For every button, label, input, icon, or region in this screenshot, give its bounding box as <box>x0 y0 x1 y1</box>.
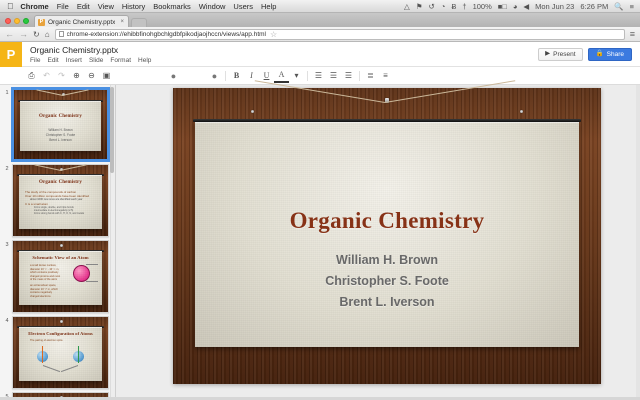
editor-toolbar: ⎙ ↶ ↷ ⊕ ⊖ ▣ ● ● B I U A ▾ ☰ ☰ ☰ ≣ ≡ <box>0 67 640 85</box>
bullet: intermediate in electronegativity (2.5) <box>25 209 98 212</box>
slide-thumbnail-1[interactable]: Organic Chemistry William H. Brown Chris… <box>12 88 109 161</box>
slide-number: 3 <box>2 240 12 248</box>
present-button[interactable]: ▶ Present <box>538 48 582 61</box>
slide-thumbnail-2[interactable]: Organic Chemistry The study of the compo… <box>12 164 109 237</box>
user-icon[interactable]: † <box>462 2 466 11</box>
slide-subtitle-1: William H. Brown <box>20 128 101 133</box>
dropbox-icon[interactable]: △ <box>404 2 410 11</box>
text-color-button[interactable]: A <box>274 69 289 83</box>
battery-icon[interactable]: ■□ <box>498 2 507 11</box>
numbered-list-icon[interactable]: ≣ <box>363 69 378 83</box>
os-menu-help[interactable]: Help <box>261 2 276 11</box>
os-menu-bar:  Chrome File Edit View History Bookmark… <box>0 0 640 13</box>
bullet: The pairing of electron spins <box>25 339 98 343</box>
play-icon: ▶ <box>545 51 550 58</box>
slide-canvas[interactable]: Organic Chemistry William H. Brown Chris… <box>195 122 579 347</box>
zoom-out-icon[interactable]: ⊖ <box>84 69 99 83</box>
chevron-down-icon[interactable]: ▾ <box>289 69 304 83</box>
app-header: P Organic Chemistry.pptx File Edit Inser… <box>0 42 640 67</box>
app-menu-edit[interactable]: Edit <box>47 57 58 64</box>
os-status-area: △ ⚑ ↺ ◔ Ƀ † 100% ■□ ◕ ◀ Mon Jun 23 6:26 … <box>404 2 640 11</box>
callout-line <box>43 365 60 372</box>
volume-icon[interactable]: ◀ <box>523 2 529 11</box>
list-item[interactable]: 3 Schematic View of an Atom a small dens… <box>0 237 115 313</box>
slide-title: Schematic View of an Atom <box>19 255 102 260</box>
close-window-button[interactable] <box>5 18 11 24</box>
slide-subtitle-2: Christopher S. Foote <box>20 133 101 138</box>
bullet: an extranuclear space, diameter 10⁻¹⁰ m,… <box>25 284 62 298</box>
battery-percent-label[interactable]: 100% <box>473 2 492 11</box>
nail-icon <box>60 244 63 247</box>
chrome-menu-icon[interactable]: ≡ <box>630 30 635 39</box>
wifi-icon[interactable]: ◕ <box>513 2 518 11</box>
callout-line <box>86 281 98 282</box>
minimize-window-button[interactable] <box>14 18 20 24</box>
nail-left-icon <box>251 110 254 113</box>
os-menu-window[interactable]: Window <box>199 2 226 11</box>
back-icon[interactable]: ← <box>5 30 14 39</box>
forward-icon[interactable]: → <box>19 30 28 39</box>
reload-icon[interactable]: ↻ <box>33 30 40 39</box>
os-time-label: 6:26 PM <box>580 2 608 11</box>
slide-title: Electron Configuration of Atoms <box>19 331 102 336</box>
lock-icon: 🔒 <box>596 51 604 58</box>
present-button-label: Present <box>553 51 575 58</box>
print-icon[interactable]: ⎙ <box>24 69 39 83</box>
slide-number: 1 <box>2 88 12 96</box>
list-item[interactable]: 4 Electron Configuration of Atoms The pa… <box>0 313 115 389</box>
spin-up-arrow-icon <box>42 346 43 363</box>
share-button-label: Share <box>607 51 624 58</box>
nail-icon <box>60 320 63 323</box>
app-menu-format[interactable]: Format <box>110 57 131 64</box>
bullet: forms single, double, and triple bonds <box>25 206 98 209</box>
browser-tab-strip: P Organic Chemistry.pptx × <box>0 13 640 27</box>
app-menu-help[interactable]: Help <box>138 57 151 64</box>
align-center-icon[interactable]: ☰ <box>326 69 341 83</box>
tab-favicon: P <box>38 19 45 26</box>
electron-sphere-icon <box>73 351 84 362</box>
search-icon[interactable]: 🔍 <box>614 2 623 11</box>
slide-bullets: The study of the compounds of carbon Ove… <box>25 190 98 216</box>
address-bar[interactable]: chrome-extension://ehibbfinohgbchlgdbfpi… <box>55 29 625 40</box>
author-name: Brent L. Iverson <box>195 292 579 313</box>
bell-icon[interactable]: ⚑ <box>416 2 423 11</box>
bullet: forms strong bonds with C, H, O, N, and … <box>25 212 98 215</box>
app-menu-bar: File Edit Insert Slide Format Help <box>30 57 158 64</box>
home-icon[interactable]: ⌂ <box>45 30 50 39</box>
slide-subtitle-3: Brent L. Iverson <box>20 138 101 143</box>
slide-canvas: Electron Configuration of Atoms The pair… <box>19 327 102 381</box>
slide-stage: Organic Chemistry William H. Brown Chris… <box>116 85 640 400</box>
bookmark-star-icon[interactable]: ☆ <box>270 30 277 39</box>
filmstrip-scrollbar[interactable] <box>110 85 115 400</box>
spin-down-arrow-icon <box>78 346 79 363</box>
slide-thumbnail-4[interactable]: Electron Configuration of Atoms The pair… <box>12 316 109 389</box>
apple-icon[interactable]:  <box>7 2 13 11</box>
current-slide[interactable]: Organic Chemistry William H. Brown Chris… <box>173 88 601 384</box>
nail-right-icon <box>520 110 523 113</box>
app-menu-slide[interactable]: Slide <box>89 57 103 64</box>
header-actions: ▶ Present 🔒 Share <box>538 48 640 61</box>
os-menu-file[interactable]: File <box>57 2 69 11</box>
clock-icon[interactable]: ◔ <box>441 2 446 11</box>
undo-icon[interactable]: ↶ <box>39 69 54 83</box>
notification-center-icon[interactable]: ≡ <box>630 2 634 11</box>
url-text: chrome-extension://ehibbfinohgbchlgdbfpi… <box>67 31 266 38</box>
title-block: Organic Chemistry.pptx File Edit Insert … <box>30 45 158 64</box>
os-menu-edit[interactable]: Edit <box>77 2 90 11</box>
os-menu-users[interactable]: Users <box>233 2 253 11</box>
align-left-icon[interactable]: ☰ <box>311 69 326 83</box>
bullet: C is a small atom <box>25 202 98 206</box>
slide-title: Organic Chemistry <box>20 114 101 119</box>
atom-diagram-icon <box>73 265 90 282</box>
filmstrip-scrollbar-thumb[interactable] <box>110 87 114 173</box>
app-logo-icon: P <box>0 42 22 67</box>
editor-workspace: 1 Organic Chemistry William H. Brown Chr… <box>0 85 640 400</box>
bold-button[interactable]: B <box>229 69 244 83</box>
callout-line <box>86 264 98 265</box>
slide-title[interactable]: Organic Chemistry <box>195 208 579 234</box>
share-button[interactable]: 🔒 Share <box>588 48 632 61</box>
close-icon[interactable]: × <box>120 19 124 25</box>
author-name: Christopher S. Foote <box>195 271 579 292</box>
bullet: Over 10 million compounds have been iden… <box>25 194 98 198</box>
page-info-icon[interactable] <box>59 31 64 37</box>
os-date-label: Mon Jun 23 <box>535 2 574 11</box>
line-icon[interactable]: ● <box>207 69 222 83</box>
os-menu-app-name[interactable]: Chrome <box>20 2 48 11</box>
electron-sphere-icon <box>37 351 48 362</box>
os-menu-history[interactable]: History <box>122 2 145 11</box>
author-name: William H. Brown <box>195 250 579 271</box>
bluetooth-icon[interactable]: Ƀ <box>451 2 456 11</box>
browser-toolbar: ← → ↻ ⌂ chrome-extension://ehibbfinohgbc… <box>0 27 640 42</box>
maximize-window-button[interactable] <box>23 18 29 24</box>
document-title[interactable]: Organic Chemistry.pptx <box>30 45 158 56</box>
shape-icon[interactable]: ● <box>166 69 181 83</box>
list-item[interactable]: 2 Organic Chemistry The study of the com… <box>0 161 115 237</box>
app-menu-insert[interactable]: Insert <box>66 57 82 64</box>
slide-canvas: Organic Chemistry William H. Brown Chris… <box>20 101 101 151</box>
os-menu-bookmarks[interactable]: Bookmarks <box>153 2 191 11</box>
align-right-icon[interactable]: ☰ <box>341 69 356 83</box>
bulleted-list-icon[interactable]: ≡ <box>378 69 393 83</box>
bullet: The study of the compounds of carbon <box>25 190 98 194</box>
callout-line <box>61 365 78 372</box>
window-controls <box>0 18 34 27</box>
app-menu-file[interactable]: File <box>30 57 40 64</box>
slide-number: 4 <box>2 316 12 324</box>
slide-canvas: Schematic View of an Atom a small dense … <box>19 251 102 305</box>
slide-title: Organic Chemistry <box>19 180 102 185</box>
list-item[interactable]: 1 Organic Chemistry William H. Brown Chr… <box>0 85 115 161</box>
tab-title: Organic Chemistry.pptx <box>48 19 115 26</box>
slide-thumbnail-3[interactable]: Schematic View of an Atom a small dense … <box>12 240 109 313</box>
workspace-right-edge <box>636 85 640 400</box>
slide-bullets: a small dense nucleus, diameter 10⁻¹⁴ - … <box>25 264 62 298</box>
slide-canvas: Organic Chemistry The study of the compo… <box>19 175 102 229</box>
bullet: a small dense nucleus, diameter 10⁻¹⁴ - … <box>25 264 62 282</box>
zoom-in-icon[interactable]: ⊕ <box>69 69 84 83</box>
slide-filmstrip[interactable]: 1 Organic Chemistry William H. Brown Chr… <box>0 85 116 400</box>
bullet: about 1000 new ones are identified each … <box>25 198 98 202</box>
slide-authors[interactable]: William H. Brown Christopher S. Foote Br… <box>195 250 579 313</box>
timemachine-icon[interactable]: ↺ <box>429 2 435 11</box>
slide-bullets: The pairing of electron spins <box>25 339 98 343</box>
slide-number: 2 <box>2 164 12 172</box>
os-menu-view[interactable]: View <box>98 2 114 11</box>
text-box-icon[interactable]: ▣ <box>99 69 114 83</box>
redo-icon[interactable]: ↷ <box>54 69 69 83</box>
